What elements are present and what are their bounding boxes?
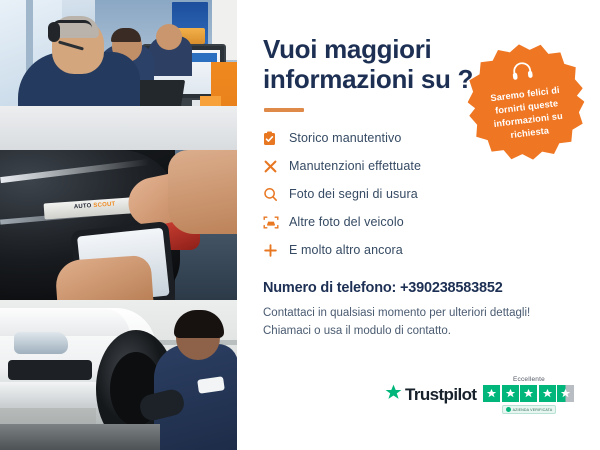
contact-subtext: Contattaci in qualsiasi momento per ulte… xyxy=(263,305,578,341)
badge-label: Saremo felici di fornirti queste informa… xyxy=(479,82,577,145)
star-icon xyxy=(539,385,556,402)
status-badge: Saremo felici di fornirti queste informa… xyxy=(461,37,590,166)
trustpilot-rating-label: Eccellente xyxy=(513,376,545,383)
plus-icon xyxy=(263,243,289,258)
contact-subtext-line-1: Contattaci in qualsiasi momento per ulte… xyxy=(263,305,578,323)
mechanic-wheel-photo xyxy=(0,300,237,450)
list-item-label: Altre foto del veicolo xyxy=(289,215,404,229)
verified-company-badge: AZIENDA VERIFICATA xyxy=(502,405,557,414)
tools-cross-icon xyxy=(263,159,289,174)
star-half-icon xyxy=(557,385,574,402)
headset-icon xyxy=(510,61,535,86)
list-item-label: Storico manutentivo xyxy=(289,131,401,145)
list-item-label: Foto dei segni di usura xyxy=(289,187,418,201)
title-divider xyxy=(264,108,304,112)
page-title: Vuoi maggiori informazioni su ? xyxy=(263,34,478,94)
trustpilot-stars xyxy=(483,385,574,402)
list-item: Foto dei segni di usura xyxy=(263,180,578,208)
trustpilot-widget[interactable]: Trustpilot Eccellente AZIENDA VERIFICATA xyxy=(385,376,574,414)
verified-label: AZIENDA VERIFICATA xyxy=(513,408,553,412)
list-item-label: Manutenzioni effettuate xyxy=(289,159,421,173)
star-icon xyxy=(385,384,402,406)
car-inspection-photo: AUTO SCOUT xyxy=(0,150,237,300)
verified-dot-icon xyxy=(506,407,511,412)
list-item: Altre foto del veicolo xyxy=(263,208,578,236)
phone-number[interactable]: Numero di telefono: +390238583852 xyxy=(263,280,578,296)
call-center-photo xyxy=(0,0,237,150)
star-icon xyxy=(520,385,537,402)
star-icon xyxy=(502,385,519,402)
star-icon xyxy=(483,385,500,402)
list-item: E molto altro ancora xyxy=(263,236,578,264)
contact-subtext-line-2: Chiamaci o usa il modulo di contatto. xyxy=(263,323,578,341)
photo-column: AUTO SCOUT xyxy=(0,0,237,450)
clipboard-check-icon xyxy=(263,131,289,146)
magnifier-icon xyxy=(263,187,289,202)
trustpilot-logo: Trustpilot xyxy=(385,384,476,406)
scan-car-icon xyxy=(263,215,289,230)
list-item-label: E molto altro ancora xyxy=(289,243,403,257)
trustpilot-name: Trustpilot xyxy=(405,385,476,405)
promo-card: AUTO SCOUT Vuoi maggiori informazioni su… xyxy=(0,0,600,450)
